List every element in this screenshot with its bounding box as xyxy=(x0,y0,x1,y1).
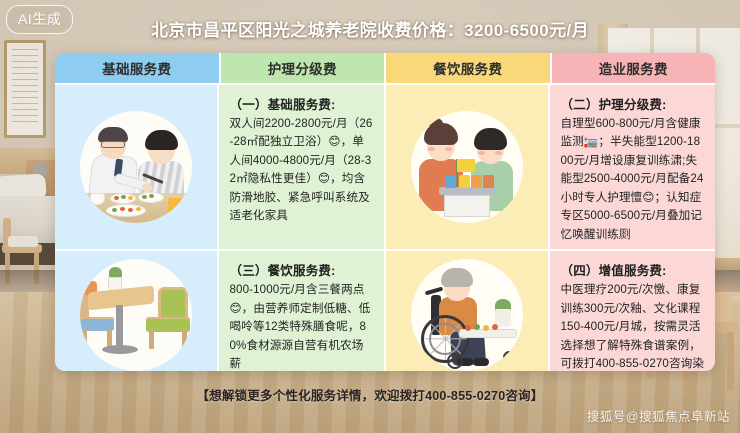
cell-body: 自理型600-800元/月含健康监测🏣；半失能型1200-1800元/月增设康复… xyxy=(561,117,704,241)
cell-text-value-added-service-fee: （四）增值服务费: 中医理疗200元/次憿、康复训练300元/次釉、文化课程15… xyxy=(550,251,716,371)
ai-generated-badge: AI生成 xyxy=(6,5,73,34)
table-header-row: 基础服务费 护理分级费 餐饮服务费 造业服务费 xyxy=(55,53,715,83)
cell-title: （二）护理分级费: xyxy=(561,94,707,113)
cell-illustration-senior-wheelchair xyxy=(386,251,550,371)
pricing-table-card: 基础服务费 护理分级费 餐饮服务费 造业服务费 xyxy=(55,53,715,371)
column-header-value-added-service-fee: 造业服务费 xyxy=(552,53,716,83)
table-row: （一）基础服务费: 双人间2200-2800元/月（26-28㎡配独立卫浴）😊，… xyxy=(55,83,715,249)
cell-body: 双人间2200-2800元/月（26-28㎡配独立卫浴）😊，单人间4000-48… xyxy=(230,117,373,222)
footer-note: 【想解锁更多个性化服务详情，欢迎拨打400-855-0270咨询】 xyxy=(0,385,740,404)
cell-illustration-dining-table xyxy=(55,251,219,371)
page-title: 北京市昌平区阳光之城养老院收费价格：3200-6500元/月 xyxy=(151,16,589,41)
column-header-basic-service-fee: 基础服务费 xyxy=(55,53,221,83)
cell-text-dining-service-fee: （三）餐饮服务费: 800-1000元/月含三餐两点😊，由营养师定制低糖、低喝呤… xyxy=(219,251,387,371)
screenshot-root: AI生成 北京市昌平区阳光之城养老院收费价格：3200-6500元/月 基础服务… xyxy=(0,0,740,433)
column-header-dining-service-fee: 餐饮服务费 xyxy=(386,53,552,83)
cell-body: 800-1000元/月含三餐两点😊，由营养师定制低糖、低喝呤等12类特殊膳食呢，… xyxy=(230,283,371,370)
cell-title: （三）餐饮服务费: xyxy=(230,260,376,279)
green-chair xyxy=(142,287,190,351)
column-header-nursing-grade-fee: 护理分级费 xyxy=(221,53,387,83)
watermark: 搜狐号@搜狐焦点阜新站 xyxy=(587,406,730,425)
cell-title: （一）基础服务费: xyxy=(230,94,376,113)
two-caregivers-with-cart-illustration xyxy=(411,111,523,223)
cell-body: 中医理疗200元/次憿、康复训练300元/次釉、文化课程150-400元/月城，… xyxy=(561,283,705,370)
dining-table-and-chairs-illustration xyxy=(80,259,192,371)
cell-text-basic-service-fee: （一）基础服务费: 双人间2200-2800元/月（26-28㎡配独立卫浴）😊，… xyxy=(219,85,387,249)
cell-text-nursing-grade-fee: （二）护理分级费: 自理型600-800元/月含健康监测🏣；半失能型1200-1… xyxy=(550,85,716,249)
table-row: （三）餐饮服务费: 800-1000元/月含三餐两点😊，由营养师定制低糖、低喝呤… xyxy=(55,249,715,371)
cell-illustration-doctor-feeding-senior xyxy=(55,85,219,249)
senior-in-wheelchair-illustration xyxy=(411,259,523,371)
cell-title: （四）增值服务费: xyxy=(561,260,707,279)
doctor-feeding-senior-illustration xyxy=(80,111,192,223)
cell-illustration-two-caregivers xyxy=(386,85,550,249)
